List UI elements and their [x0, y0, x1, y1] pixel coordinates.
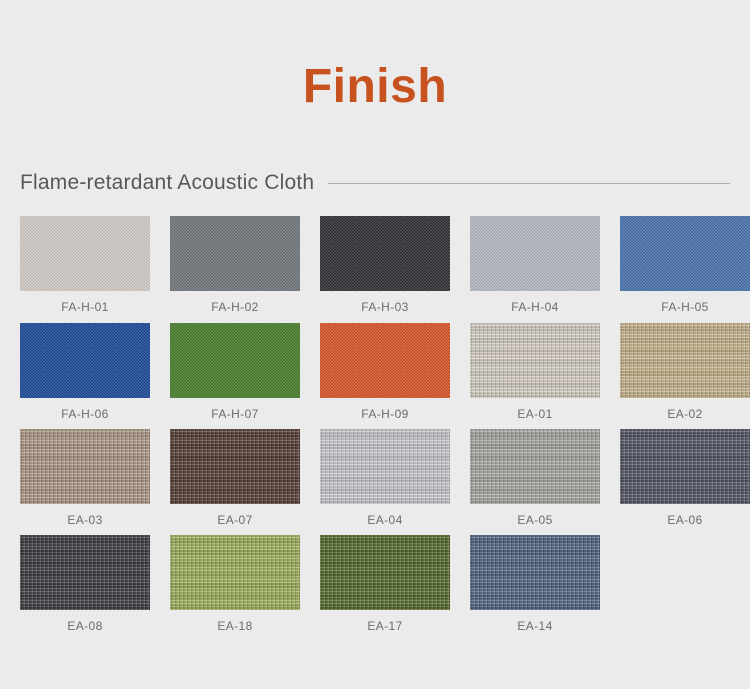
swatch-label: FA-H-09: [320, 407, 450, 421]
swatch-cell[interactable]: EA-08: [20, 535, 150, 633]
swatch-cell[interactable]: EA-14: [470, 535, 600, 633]
swatch-color-chip[interactable]: [20, 216, 150, 291]
swatch-label: FA-H-02: [170, 300, 300, 314]
swatch-color-chip[interactable]: [470, 323, 600, 398]
swatch-cell[interactable]: FA-H-01: [20, 216, 150, 314]
swatch-label: EA-07: [170, 513, 300, 527]
swatch-label: EA-18: [170, 619, 300, 633]
swatch-color-chip[interactable]: [320, 323, 450, 398]
swatch-color-chip[interactable]: [470, 429, 600, 504]
swatch-cell[interactable]: EA-05: [470, 429, 600, 527]
swatch-cell[interactable]: EA-06: [620, 429, 750, 527]
swatch-color-chip[interactable]: [620, 216, 750, 291]
swatch-color-chip[interactable]: [170, 323, 300, 398]
swatch-cell[interactable]: EA-18: [170, 535, 300, 633]
swatch-color-chip[interactable]: [320, 429, 450, 504]
swatch-label: FA-H-05: [620, 300, 750, 314]
swatch-label: EA-14: [470, 619, 600, 633]
swatch-label: EA-17: [320, 619, 450, 633]
swatch-label: EA-01: [470, 407, 600, 421]
swatch-cell[interactable]: EA-01: [470, 323, 600, 421]
swatch-cell[interactable]: FA-H-07: [170, 323, 300, 421]
swatch-cell[interactable]: EA-03: [20, 429, 150, 527]
swatch-color-chip[interactable]: [20, 535, 150, 610]
swatch-color-chip[interactable]: [620, 323, 750, 398]
section-divider: [328, 183, 730, 184]
swatch-color-chip[interactable]: [470, 535, 600, 610]
swatch-label: EA-08: [20, 619, 150, 633]
swatch-label: EA-06: [620, 513, 750, 527]
swatch-color-chip[interactable]: [320, 216, 450, 291]
swatch-color-chip[interactable]: [20, 429, 150, 504]
swatch-cell[interactable]: EA-02: [620, 323, 750, 421]
swatch-color-chip[interactable]: [320, 535, 450, 610]
swatch-label: FA-H-07: [170, 407, 300, 421]
swatch-cell[interactable]: FA-H-03: [320, 216, 450, 314]
swatch-cell[interactable]: FA-H-06: [20, 323, 150, 421]
section-title: Flame-retardant Acoustic Cloth: [20, 171, 314, 195]
finish-page: Finish Flame-retardant Acoustic Cloth FA…: [0, 32, 750, 689]
swatch-grid: FA-H-01FA-H-02FA-H-03FA-H-04FA-H-05FA-H-…: [0, 216, 750, 642]
swatch-label: EA-02: [620, 407, 750, 421]
swatch-label: EA-04: [320, 513, 450, 527]
swatch-color-chip[interactable]: [170, 429, 300, 504]
swatch-cell[interactable]: EA-07: [170, 429, 300, 527]
swatch-color-chip[interactable]: [170, 216, 300, 291]
swatch-cell[interactable]: EA-17: [320, 535, 450, 633]
swatch-label: EA-05: [470, 513, 600, 527]
swatch-label: FA-H-06: [20, 407, 150, 421]
swatch-cell[interactable]: FA-H-02: [170, 216, 300, 314]
swatch-cell[interactable]: FA-H-09: [320, 323, 450, 421]
swatch-label: EA-03: [20, 513, 150, 527]
swatch-label: FA-H-01: [20, 300, 150, 314]
swatch-color-chip[interactable]: [620, 429, 750, 504]
swatch-label: FA-H-03: [320, 300, 450, 314]
swatch-color-chip[interactable]: [20, 323, 150, 398]
swatch-cell[interactable]: FA-H-05: [620, 216, 750, 314]
swatch-cell[interactable]: EA-04: [320, 429, 450, 527]
swatch-cell[interactable]: FA-H-04: [470, 216, 600, 314]
swatch-label: FA-H-04: [470, 300, 600, 314]
page-title: Finish: [0, 32, 750, 111]
swatch-color-chip[interactable]: [170, 535, 300, 610]
swatch-color-chip[interactable]: [470, 216, 600, 291]
section-header: Flame-retardant Acoustic Cloth: [0, 171, 750, 195]
swatch-cell-empty: [620, 535, 750, 633]
